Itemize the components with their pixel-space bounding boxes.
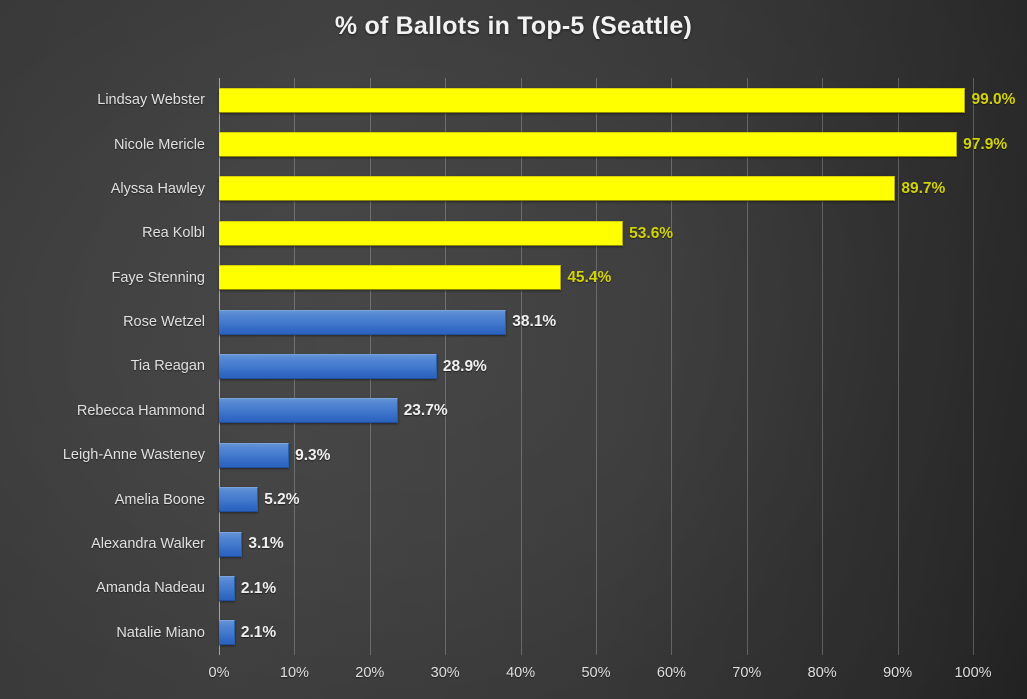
x-axis-tick-label: 10% bbox=[280, 665, 309, 681]
y-axis-label: Faye Stenning bbox=[0, 256, 205, 300]
bar-row: 89.7% bbox=[219, 167, 1027, 211]
y-axis-label: Tia Reagan bbox=[0, 344, 205, 388]
bar-value-label: 45.4% bbox=[567, 270, 611, 286]
x-axis-tick-label: 40% bbox=[506, 665, 535, 681]
bar-wrapper: 38.1% bbox=[219, 310, 556, 335]
chart-title: % of Ballots in Top-5 (Seattle) bbox=[0, 12, 1027, 41]
y-axis-label: Rose Wetzel bbox=[0, 300, 205, 344]
x-axis-tick-label: 60% bbox=[657, 665, 686, 681]
bar-wrapper: 89.7% bbox=[219, 176, 945, 201]
bar-row: 5.2% bbox=[219, 477, 1027, 521]
bar-row: 97.9% bbox=[219, 122, 1027, 166]
bar-row: 23.7% bbox=[219, 389, 1027, 433]
bar[interactable] bbox=[219, 620, 235, 645]
bar[interactable] bbox=[219, 443, 289, 468]
bar-wrapper: 9.3% bbox=[219, 443, 330, 468]
bar-wrapper: 3.1% bbox=[219, 532, 284, 557]
y-axis-label: Amelia Boone bbox=[0, 477, 205, 521]
bar[interactable] bbox=[219, 576, 235, 601]
x-axis-tick-label: 0% bbox=[209, 665, 230, 681]
bar-row: 53.6% bbox=[219, 211, 1027, 255]
bar-wrapper: 97.9% bbox=[219, 132, 1007, 157]
x-axis-tick-label: 80% bbox=[808, 665, 837, 681]
bar-value-label: 28.9% bbox=[443, 359, 487, 375]
bar-row: 3.1% bbox=[219, 522, 1027, 566]
bar-value-label: 38.1% bbox=[512, 314, 556, 330]
bar[interactable] bbox=[219, 398, 398, 423]
plot-area: 99.0%97.9%89.7%53.6%45.4%38.1%28.9%23.7%… bbox=[219, 78, 973, 655]
bar-wrapper: 45.4% bbox=[219, 265, 611, 290]
bar[interactable] bbox=[219, 221, 623, 246]
bar-row: 9.3% bbox=[219, 433, 1027, 477]
y-axis-category-labels: Lindsay WebsterNicole MericleAlyssa Hawl… bbox=[0, 78, 211, 655]
x-axis-tick-label: 90% bbox=[883, 665, 912, 681]
bar-row: 38.1% bbox=[219, 300, 1027, 344]
bar[interactable] bbox=[219, 88, 965, 113]
bar[interactable] bbox=[219, 265, 561, 290]
y-axis-label: Natalie Miano bbox=[0, 611, 205, 655]
bar[interactable] bbox=[219, 532, 242, 557]
bar-value-label: 9.3% bbox=[295, 448, 330, 464]
bar[interactable] bbox=[219, 487, 258, 512]
bar[interactable] bbox=[219, 176, 895, 201]
bar-value-label: 2.1% bbox=[241, 581, 276, 597]
bar-value-label: 97.9% bbox=[963, 137, 1007, 153]
bar-row: 2.1% bbox=[219, 566, 1027, 610]
x-axis-tick-label: 30% bbox=[431, 665, 460, 681]
x-axis-tick-label: 20% bbox=[355, 665, 384, 681]
y-axis-label: Alexandra Walker bbox=[0, 522, 205, 566]
y-axis-label: Nicole Mericle bbox=[0, 122, 205, 166]
bar-value-label: 99.0% bbox=[971, 92, 1015, 108]
bar-wrapper: 99.0% bbox=[219, 88, 1015, 113]
bar-row: 45.4% bbox=[219, 256, 1027, 300]
bar-value-label: 89.7% bbox=[901, 181, 945, 197]
bar-row: 99.0% bbox=[219, 78, 1027, 122]
x-axis-tick-label: 70% bbox=[732, 665, 761, 681]
bar-value-label: 5.2% bbox=[264, 492, 299, 508]
bar-wrapper: 2.1% bbox=[219, 620, 276, 645]
y-axis-label: Alyssa Hawley bbox=[0, 167, 205, 211]
bar-wrapper: 28.9% bbox=[219, 354, 487, 379]
y-axis-label: Leigh-Anne Wasteney bbox=[0, 433, 205, 477]
y-axis-label: Rebecca Hammond bbox=[0, 389, 205, 433]
bar-wrapper: 2.1% bbox=[219, 576, 276, 601]
bar[interactable] bbox=[219, 132, 957, 157]
bar-wrapper: 53.6% bbox=[219, 221, 673, 246]
bar-wrapper: 5.2% bbox=[219, 487, 300, 512]
bar-value-label: 53.6% bbox=[629, 226, 673, 242]
x-axis-tick-label: 50% bbox=[581, 665, 610, 681]
y-axis-label: Amanda Nadeau bbox=[0, 566, 205, 610]
x-axis-tick-label: 100% bbox=[954, 665, 991, 681]
bar-row: 28.9% bbox=[219, 344, 1027, 388]
y-axis-label: Lindsay Webster bbox=[0, 78, 205, 122]
bar-value-label: 3.1% bbox=[248, 536, 283, 552]
chart-container: % of Ballots in Top-5 (Seattle) Lindsay … bbox=[0, 0, 1027, 699]
bar-wrapper: 23.7% bbox=[219, 398, 448, 423]
x-axis-tick-labels: 0%10%20%30%40%50%60%70%80%90%100% bbox=[219, 665, 973, 693]
bar-value-label: 2.1% bbox=[241, 625, 276, 641]
bar-row: 2.1% bbox=[219, 611, 1027, 655]
bar-value-label: 23.7% bbox=[404, 403, 448, 419]
bar[interactable] bbox=[219, 354, 437, 379]
y-axis-label: Rea Kolbl bbox=[0, 211, 205, 255]
bar[interactable] bbox=[219, 310, 506, 335]
